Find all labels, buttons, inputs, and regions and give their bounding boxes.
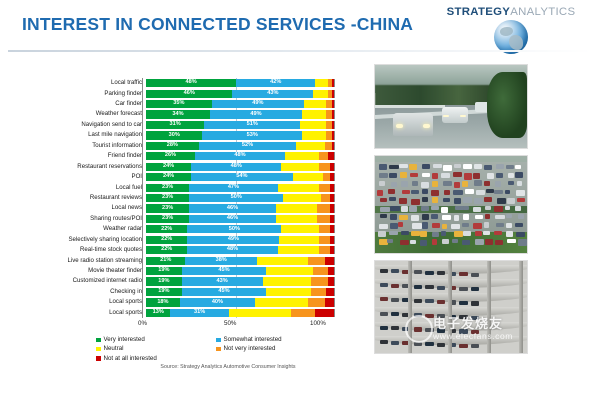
chart-segment-value: 45% bbox=[218, 268, 229, 274]
garage-parked-car bbox=[425, 271, 433, 275]
photo-car bbox=[432, 173, 438, 179]
chart-segment-value: 52% bbox=[242, 143, 253, 149]
chart-segment-very: 13% bbox=[146, 309, 170, 317]
photo-car bbox=[474, 198, 483, 204]
photo-car bbox=[462, 181, 468, 187]
photo-car bbox=[484, 197, 492, 202]
chart-segment-value: 35% bbox=[173, 101, 184, 107]
garage-parked-car bbox=[380, 269, 388, 273]
garage-parked-car bbox=[391, 269, 399, 273]
photo-car bbox=[399, 215, 409, 220]
chart-segment-somewhat: 49% bbox=[187, 236, 279, 244]
photo-car bbox=[379, 224, 389, 230]
photo-car bbox=[411, 199, 421, 205]
chart-segment-very: 22% bbox=[146, 225, 187, 233]
photo-car bbox=[505, 190, 511, 195]
chart-segment-neutral bbox=[300, 121, 326, 129]
chart-row: Friend finder26%48% bbox=[14, 151, 354, 161]
photo-car bbox=[422, 164, 430, 169]
photo-car bbox=[454, 182, 460, 188]
chart-segment-very: 24% bbox=[146, 173, 191, 181]
chart-segment-very: 23% bbox=[146, 204, 189, 212]
chart-segment-neutral bbox=[276, 204, 317, 212]
garage-support-column bbox=[448, 261, 452, 353]
garage-parked-car bbox=[471, 273, 479, 277]
chart-segment-neutral bbox=[315, 79, 328, 87]
chart-row: Live radio station streaming21%38% bbox=[14, 255, 354, 265]
chart-row: Sharing routes/POI23%46% bbox=[14, 214, 354, 224]
photo-car bbox=[518, 239, 527, 245]
chart-segment-very: 22% bbox=[146, 236, 187, 244]
chart-stacked-bar: 46%43% bbox=[146, 90, 335, 98]
chart-segment-not-at-all bbox=[328, 277, 334, 285]
chart-segment-value: 24% bbox=[163, 164, 174, 170]
chart-segment-value: 54% bbox=[236, 174, 247, 180]
garage-parked-car bbox=[425, 314, 433, 318]
chart-segment-neutral bbox=[263, 277, 312, 285]
garage-parked-car bbox=[391, 298, 399, 302]
photo-car bbox=[388, 189, 395, 194]
chart-segment-somewhat: 53% bbox=[202, 131, 302, 139]
chart-segment-somewhat: 43% bbox=[232, 90, 313, 98]
photo-car bbox=[452, 239, 457, 243]
chart-segment-somewhat: 38% bbox=[185, 257, 256, 265]
legend-label: Very interested bbox=[104, 336, 145, 344]
photo-guardrail bbox=[375, 105, 445, 108]
chart-segment-neutral bbox=[257, 257, 308, 265]
photo-car bbox=[379, 181, 385, 186]
chart-segment-not-very bbox=[319, 236, 330, 244]
chart-segment-neutral bbox=[266, 267, 313, 275]
photo-car bbox=[401, 181, 408, 187]
photo-car bbox=[485, 239, 493, 245]
chart-source-note: Source: Strategy Analytics Automotive Co… bbox=[110, 364, 346, 370]
garage-parked-car bbox=[391, 341, 399, 345]
chart-row-label: Local sports bbox=[14, 310, 146, 316]
photo-car bbox=[431, 206, 439, 211]
chart-segment-very: 46% bbox=[146, 90, 232, 98]
chart-row-label: Navigation send to car bbox=[14, 122, 146, 128]
photo-car bbox=[485, 206, 491, 210]
photo-car bbox=[422, 222, 429, 228]
chart-segment-somewhat: 48% bbox=[195, 152, 285, 160]
garage-parked-car bbox=[380, 326, 388, 330]
garage-support-column bbox=[487, 261, 491, 353]
chart-x-axis-labels: 0% 50% 100% bbox=[142, 320, 331, 332]
chart-segment-value: 18% bbox=[157, 300, 168, 306]
chart-segment-very: 21% bbox=[146, 257, 185, 265]
photo-car bbox=[474, 164, 481, 169]
chart-segment-value: 30% bbox=[169, 133, 180, 139]
chart-segment-value: 23% bbox=[162, 195, 173, 201]
chart-row-label: Checking in bbox=[14, 289, 146, 295]
photo-car bbox=[507, 198, 515, 204]
chart-segment-not-very bbox=[291, 309, 315, 317]
garage-parked-car bbox=[471, 301, 479, 305]
chart-segment-not-very bbox=[319, 246, 330, 254]
chart-segment-neutral bbox=[313, 90, 328, 98]
chart-row-label: Real-time stock quotes bbox=[14, 247, 146, 253]
chart-segment-value: 31% bbox=[194, 310, 205, 316]
photo-car bbox=[496, 164, 504, 168]
chart-row: Selectively sharing location22%49% bbox=[14, 235, 354, 245]
garage-parked-car bbox=[437, 286, 445, 290]
garage-parked-car bbox=[391, 312, 399, 316]
chart-segment-value: 47% bbox=[228, 185, 239, 191]
chart-segment-value: 46% bbox=[227, 216, 238, 222]
photo-car bbox=[495, 215, 505, 220]
chart-segment-neutral bbox=[276, 215, 317, 223]
photo-car bbox=[463, 231, 471, 236]
garage-parked-car bbox=[459, 315, 467, 319]
chart-segment-value: 43% bbox=[217, 279, 228, 285]
photo-car bbox=[442, 239, 449, 244]
traffic-jam-photo bbox=[374, 155, 528, 254]
chart-row: Weather forecast34%49% bbox=[14, 109, 354, 119]
chart-segment-very: 34% bbox=[146, 110, 210, 118]
chart-row-label: Weather forecast bbox=[14, 111, 146, 117]
chart-segment-not-at-all bbox=[325, 257, 334, 265]
photo-car bbox=[422, 197, 428, 202]
chart-stacked-bar: 26%48% bbox=[146, 152, 335, 160]
photo-car bbox=[389, 231, 399, 235]
chart-stacked-bar: 22%49% bbox=[146, 236, 335, 244]
photo-car bbox=[389, 173, 397, 177]
chart-row: Restaurant reservations24%48% bbox=[14, 162, 354, 172]
chart-segment-value: 49% bbox=[250, 112, 261, 118]
chart-segment-value: 19% bbox=[158, 289, 169, 295]
legend-swatch bbox=[216, 338, 221, 343]
chart-segment-not-at-all bbox=[325, 298, 334, 306]
chart-row-label: POI bbox=[14, 174, 146, 180]
chart-segment-not-very bbox=[311, 288, 326, 296]
photo-congested-cars bbox=[375, 156, 527, 253]
garage-parked-car bbox=[437, 314, 445, 318]
photo-car bbox=[487, 173, 495, 179]
chart-stacked-bar: 34%49% bbox=[146, 110, 335, 118]
x-tick-50: 50% bbox=[224, 320, 236, 327]
photo-car bbox=[464, 173, 473, 179]
chart-segment-somewhat: 50% bbox=[189, 194, 283, 202]
chart-segment-not-at-all bbox=[330, 204, 334, 212]
chart-segment-very: 48% bbox=[146, 79, 236, 87]
chart-segment-not-at-all bbox=[330, 194, 334, 202]
photo-car bbox=[422, 214, 429, 220]
photo-car bbox=[389, 197, 396, 201]
photo-car bbox=[463, 164, 472, 169]
chart-segment-very: 28% bbox=[146, 142, 199, 150]
photo-car bbox=[390, 223, 398, 229]
photo-car bbox=[421, 206, 429, 210]
photo-car bbox=[431, 214, 438, 219]
chart-segment-value: 38% bbox=[216, 258, 227, 264]
garage-parked-car bbox=[459, 329, 467, 333]
chart-segment-neutral bbox=[255, 298, 308, 306]
photo-car bbox=[432, 197, 438, 203]
garage-parked-car bbox=[425, 328, 433, 332]
photo-car bbox=[483, 231, 490, 236]
photo-car bbox=[420, 231, 427, 237]
chart-segment-somewhat: 54% bbox=[191, 173, 293, 181]
chart-segment-somewhat: 40% bbox=[180, 298, 255, 306]
photo-car bbox=[377, 190, 383, 196]
parking-garage-photo: 电子发烧友 www.elecfans.com bbox=[374, 260, 528, 354]
chart-row: Local traffic48%42% bbox=[14, 78, 354, 88]
photo-car bbox=[412, 181, 419, 186]
chart-row-label: Car finder bbox=[14, 101, 146, 107]
legend-swatch bbox=[216, 347, 221, 352]
garage-parked-car bbox=[471, 330, 479, 334]
chart-segment-value: 43% bbox=[267, 91, 278, 97]
chart-stacked-bar: 21%38% bbox=[146, 257, 335, 265]
chart-segment-value: 49% bbox=[228, 237, 239, 243]
photo-car bbox=[454, 215, 460, 221]
chart-row-label: Customized internet radio bbox=[14, 278, 146, 284]
chart-row-label: Restaurant reservations bbox=[14, 164, 146, 170]
chart-segment-not-very bbox=[325, 142, 333, 150]
garage-parked-car bbox=[471, 287, 479, 291]
photo-car bbox=[475, 231, 482, 236]
chart-segment-neutral bbox=[229, 309, 291, 317]
x-tick-100: 100% bbox=[310, 320, 326, 327]
chart-row-label: Live radio station streaming bbox=[14, 258, 146, 264]
chart-segment-value: 42% bbox=[270, 80, 281, 86]
photo-car bbox=[473, 207, 481, 213]
chart-segment-not-at-all bbox=[330, 184, 334, 192]
chart-segment-somewhat: 50% bbox=[187, 225, 281, 233]
photo-car bbox=[506, 165, 513, 170]
chart-row-label: Last mile navigation bbox=[14, 132, 146, 138]
photo-car bbox=[473, 173, 480, 179]
legend-column-right: Somewhat interestedNot very interested bbox=[216, 336, 282, 362]
garage-parked-car bbox=[425, 342, 433, 346]
chart-segment-not-at-all bbox=[315, 309, 334, 317]
photo-car bbox=[409, 164, 417, 170]
legend-label: Not very interested bbox=[224, 345, 276, 353]
chart-segment-very: 19% bbox=[146, 288, 182, 296]
legend-column-left: Very interestedNeutralNot at all interes… bbox=[96, 336, 206, 362]
photo-car bbox=[451, 224, 460, 230]
chart-stacked-bar: 22%48% bbox=[146, 246, 335, 254]
chart-segment-neutral bbox=[278, 246, 319, 254]
chart-segment-somewhat: 45% bbox=[182, 288, 267, 296]
photo-car bbox=[380, 198, 388, 202]
garage-parked-car bbox=[437, 271, 445, 275]
photo-car bbox=[462, 240, 470, 245]
chart-row: Local sports 13%31% bbox=[14, 308, 354, 318]
chart-stacked-bar: 35%49% bbox=[146, 100, 335, 108]
chart-segment-value: 23% bbox=[162, 216, 173, 222]
chart-segment-not-very bbox=[319, 184, 330, 192]
photo-car bbox=[516, 190, 525, 196]
legend-swatch bbox=[96, 356, 101, 361]
garage-parked-car bbox=[391, 326, 399, 330]
chart-stacked-bar: 23%47% bbox=[146, 184, 335, 192]
garage-parked-car bbox=[437, 343, 445, 347]
photo-car bbox=[486, 189, 494, 193]
photo-car bbox=[410, 240, 416, 244]
chart-segment-not-at-all bbox=[332, 100, 334, 108]
garage-parked-car bbox=[459, 344, 467, 348]
chart-segment-not-at-all bbox=[332, 121, 334, 129]
photo-car bbox=[494, 190, 503, 194]
garage-parked-car bbox=[437, 300, 445, 304]
garage-parked-car bbox=[471, 316, 479, 320]
photo-car bbox=[507, 239, 516, 243]
chart-stacked-bar: 48%42% bbox=[146, 79, 335, 87]
photo-car bbox=[508, 173, 514, 177]
chart-segment-not-at-all bbox=[330, 163, 334, 171]
chart-row: Checking in19%45% bbox=[14, 287, 354, 297]
photo-car-near bbox=[393, 113, 433, 136]
chart-segment-neutral bbox=[302, 110, 326, 118]
garage-parked-car bbox=[380, 297, 388, 301]
chart-segment-value: 21% bbox=[160, 258, 171, 264]
photo-column: 电子发烧友 www.elecfans.com bbox=[374, 64, 526, 360]
chart-segment-neutral bbox=[304, 100, 327, 108]
photo-car bbox=[378, 231, 387, 237]
garage-parked-car bbox=[459, 272, 467, 276]
chart-segment-neutral bbox=[302, 131, 326, 139]
photo-car-mid bbox=[442, 107, 468, 124]
chart-segment-very: 23% bbox=[146, 215, 189, 223]
x-tick-0: 0% bbox=[138, 320, 147, 327]
chart-segment-very: 19% bbox=[146, 277, 182, 285]
chart-row-label: Tourist information bbox=[14, 143, 146, 149]
chart-row: Restaurant reviews23%50% bbox=[14, 193, 354, 203]
photo-car bbox=[400, 172, 407, 178]
chart-segment-value: 46% bbox=[184, 91, 195, 97]
chart-segment-not-at-all bbox=[330, 215, 334, 223]
chart-row-label: Friend finder bbox=[14, 153, 146, 159]
photo-car bbox=[432, 181, 438, 186]
photo-car bbox=[412, 223, 421, 229]
chart-segment-somewhat: 49% bbox=[212, 100, 304, 108]
photo-car bbox=[420, 240, 428, 246]
chart-segment-somewhat: 48% bbox=[187, 246, 277, 254]
photo-car bbox=[505, 206, 511, 210]
chart-segment-not-at-all bbox=[330, 236, 334, 244]
chart-segment-not-at-all bbox=[330, 173, 334, 181]
chart-segment-very: 18% bbox=[146, 298, 180, 306]
chart-segment-value: 23% bbox=[162, 206, 173, 212]
legend-item: Not very interested bbox=[216, 345, 282, 353]
chart-segment-neutral bbox=[285, 152, 319, 160]
photo-car bbox=[517, 181, 522, 185]
photo-car bbox=[454, 164, 461, 168]
garage-support-column bbox=[408, 261, 412, 353]
chart-stacked-bar: 22%50% bbox=[146, 225, 335, 233]
photo-car bbox=[402, 190, 410, 194]
garage-parked-car bbox=[380, 283, 388, 287]
chart-stacked-bar: 23%46% bbox=[146, 215, 335, 223]
chart-legend: Very interestedNeutralNot at all interes… bbox=[96, 336, 346, 362]
chart-segment-neutral bbox=[296, 142, 324, 150]
photo-car bbox=[476, 190, 485, 195]
chart-row: Car finder35%49% bbox=[14, 99, 354, 109]
photo-car bbox=[496, 223, 504, 227]
chart-row-label: Local news bbox=[14, 205, 146, 211]
photo-car bbox=[398, 222, 403, 227]
chart-segment-value: 48% bbox=[234, 153, 245, 159]
chart-segment-neutral bbox=[278, 184, 319, 192]
chart-row-label: Movie theater finder bbox=[14, 268, 146, 274]
photo-car bbox=[508, 181, 514, 185]
photo-car bbox=[465, 189, 475, 194]
photo-car bbox=[409, 206, 417, 212]
photo-car bbox=[484, 165, 492, 170]
chart-segment-not-at-all bbox=[332, 110, 334, 118]
logo-analytics-text: ANALYTICS bbox=[510, 6, 575, 18]
chart-segment-not-at-all bbox=[332, 79, 334, 87]
garage-parked-car bbox=[414, 270, 422, 274]
chart-segment-very: 19% bbox=[146, 267, 182, 275]
chart-segment-not-very bbox=[313, 267, 328, 275]
logo-wordmark: STRATEGYANALYTICS bbox=[436, 6, 586, 18]
chart-segment-neutral bbox=[281, 225, 319, 233]
chart-row-label: Restaurant reviews bbox=[14, 195, 146, 201]
photo-car bbox=[515, 172, 523, 178]
chart-segment-not-at-all bbox=[328, 152, 334, 160]
chart-segment-value: 31% bbox=[170, 122, 181, 128]
header-divider bbox=[8, 50, 592, 52]
chart-segment-very: 23% bbox=[146, 194, 189, 202]
chart-segment-somewhat: 46% bbox=[189, 215, 275, 223]
chart-segment-value: 48% bbox=[231, 164, 242, 170]
chart-segment-value: 26% bbox=[165, 153, 176, 159]
photo-car bbox=[380, 214, 387, 218]
chart-segment-value: 48% bbox=[227, 247, 238, 253]
chart-row: Last mile navigation30%53% bbox=[14, 130, 354, 140]
chart-segment-neutral bbox=[293, 173, 323, 181]
chart-segment-value: 22% bbox=[161, 247, 172, 253]
photo-car bbox=[399, 198, 407, 204]
connected-services-chart: Local traffic48%42%Parking finder46%43%C… bbox=[14, 78, 354, 333]
garage-parked-car bbox=[380, 340, 388, 344]
chart-stacked-bar: 19%45% bbox=[146, 288, 335, 296]
chart-segment-not-very bbox=[317, 215, 330, 223]
chart-segment-very: 30% bbox=[146, 131, 202, 139]
photo-car bbox=[463, 206, 469, 210]
photo-car bbox=[443, 165, 452, 171]
photo-car bbox=[411, 231, 420, 236]
chart-segment-somewhat: 45% bbox=[182, 267, 267, 275]
chart-segment-not-at-all bbox=[330, 246, 334, 254]
chart-segment-not-at-all bbox=[330, 225, 334, 233]
chart-stacked-bar: 31%51% bbox=[146, 121, 335, 129]
photo-car bbox=[515, 223, 523, 228]
chart-stacked-bar: 13%31% bbox=[146, 309, 335, 317]
photo-car bbox=[411, 215, 419, 221]
chart-row-label: Local fuel bbox=[14, 185, 146, 191]
legend-label: Not at all interested bbox=[104, 355, 157, 363]
chart-segment-value: 19% bbox=[158, 268, 169, 274]
photo-car bbox=[432, 223, 440, 228]
chart-segment-neutral bbox=[266, 288, 311, 296]
chart-segment-not-very bbox=[317, 204, 330, 212]
chart-row: Weather radar22%50% bbox=[14, 224, 354, 234]
photo-car bbox=[401, 206, 407, 212]
chart-row: Local news23%46% bbox=[14, 203, 354, 213]
photo-car bbox=[390, 214, 397, 220]
chart-segment-somewhat: 46% bbox=[189, 204, 275, 212]
rainy-highway-photo bbox=[374, 64, 528, 149]
photo-car bbox=[475, 239, 484, 244]
photo-car bbox=[463, 214, 470, 220]
garage-parked-car bbox=[459, 301, 467, 305]
chart-segment-somewhat: 42% bbox=[236, 79, 315, 87]
photo-car bbox=[506, 214, 513, 218]
